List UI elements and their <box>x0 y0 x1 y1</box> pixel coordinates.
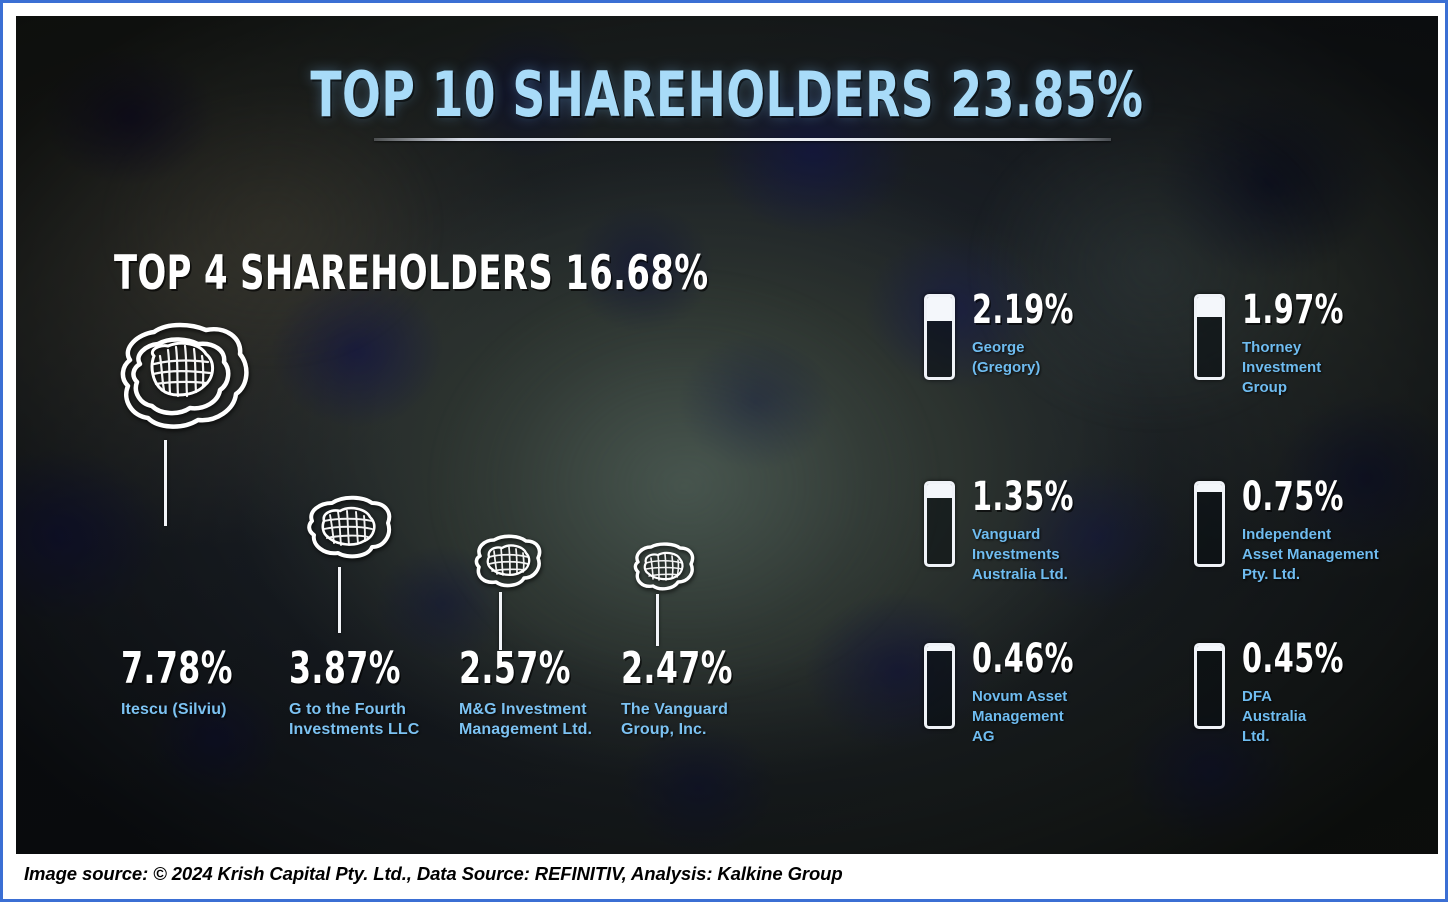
shareholder-value-text: 2.19% <box>972 288 1074 332</box>
vial-fill <box>1197 297 1222 317</box>
remaining-shareholders-group: 2.19% George (Gregory) 1.97% Thorney Inv… <box>16 16 1438 856</box>
vial-icon <box>924 481 955 567</box>
vial-fill <box>1197 484 1222 492</box>
shareholder-value: 0.75% <box>1242 475 1369 519</box>
shareholder-label: Vanguard Investments Australia Ltd. <box>972 525 1147 585</box>
inner-frame: TOP 10 SHAREHOLDERS 23.85% TOP 4 SHAREHO… <box>12 12 1442 896</box>
vial-icon <box>924 294 955 380</box>
shareholder-value: 1.97% <box>1242 288 1369 332</box>
shareholder-label: Independent Asset Management Pty. Ltd. <box>1242 525 1417 585</box>
infographic-page: TOP 10 SHAREHOLDERS 23.85% TOP 4 SHAREHO… <box>0 0 1448 902</box>
vial-fill <box>927 297 952 321</box>
shareholder-label: Thorney Investment Group <box>1242 338 1417 398</box>
shareholder-value-text: 0.75% <box>1242 475 1344 519</box>
artwork-canvas: TOP 10 SHAREHOLDERS 23.85% TOP 4 SHAREHO… <box>16 16 1438 856</box>
vial-icon <box>1194 294 1225 380</box>
vial-icon <box>924 643 955 729</box>
shareholder-value-text: 0.46% <box>972 637 1074 681</box>
shareholder-value: 2.19% <box>972 288 1099 332</box>
shareholder-value: 1.35% <box>972 475 1099 519</box>
vial-fill <box>1197 646 1222 651</box>
shareholder-value-text: 1.35% <box>972 475 1074 519</box>
footer-bar: Image source: © 2024 Krish Capital Pty. … <box>16 854 1438 894</box>
vial-icon <box>1194 481 1225 567</box>
shareholder-value-text: 0.45% <box>1242 637 1344 681</box>
shareholder-value: 0.45% <box>1242 637 1369 681</box>
footer-caption: Image source: © 2024 Krish Capital Pty. … <box>16 863 843 885</box>
vial-icon <box>1194 643 1225 729</box>
shareholder-label: Novum Asset Management AG <box>972 687 1147 747</box>
vial-fill <box>927 646 952 651</box>
shareholder-label: DFA Australia Ltd. <box>1242 687 1417 747</box>
shareholder-value: 0.46% <box>972 637 1099 681</box>
shareholder-label: George (Gregory) <box>972 338 1147 378</box>
vial-fill <box>927 484 952 498</box>
shareholder-value-text: 1.97% <box>1242 288 1344 332</box>
